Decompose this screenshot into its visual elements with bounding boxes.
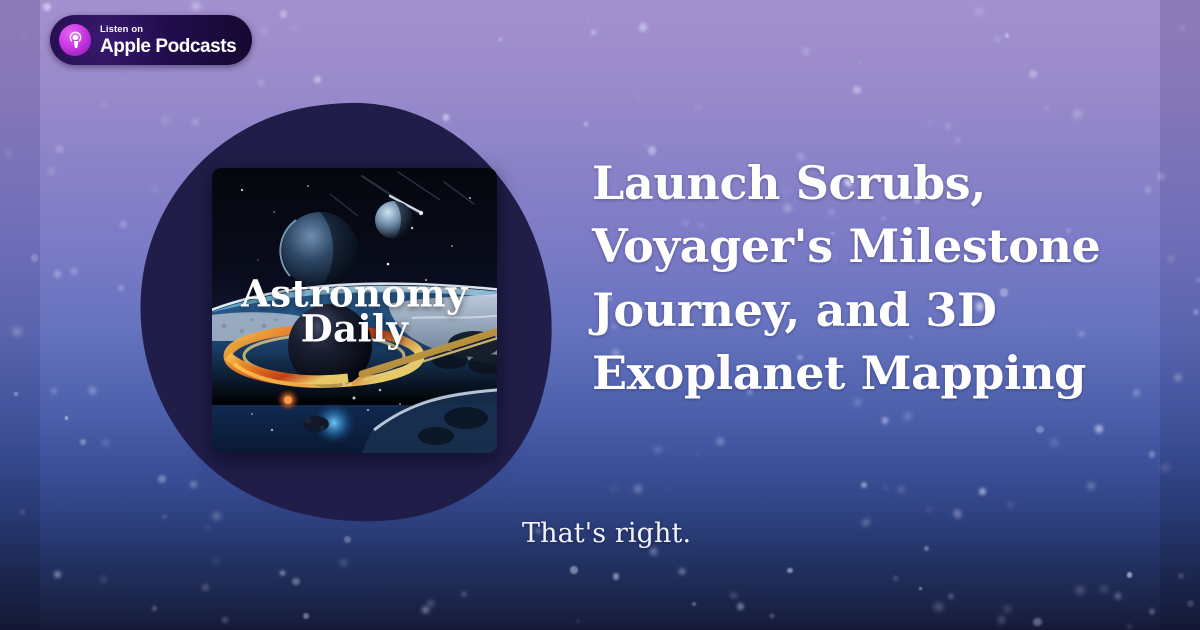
star-dot bbox=[787, 568, 793, 574]
star-dot bbox=[280, 10, 288, 18]
star-dot bbox=[611, 486, 616, 491]
star-dot bbox=[955, 137, 962, 144]
star-dot bbox=[1150, 609, 1155, 614]
star-dot bbox=[679, 569, 685, 575]
star-dot bbox=[214, 559, 217, 562]
star-dot bbox=[152, 606, 157, 611]
star-dot bbox=[927, 507, 932, 512]
star-dot bbox=[1193, 309, 1199, 315]
star-dot bbox=[1133, 389, 1141, 397]
star-dot bbox=[1109, 78, 1112, 81]
star-dot bbox=[21, 34, 26, 39]
star-dot bbox=[31, 254, 39, 262]
star-dot bbox=[696, 452, 699, 455]
star-dot bbox=[1158, 173, 1165, 180]
star-dot bbox=[61, 504, 64, 507]
star-dot bbox=[89, 387, 96, 394]
star-dot bbox=[1162, 464, 1170, 472]
star-dot bbox=[956, 513, 962, 519]
star-dot bbox=[803, 48, 809, 54]
star-dot bbox=[202, 584, 209, 591]
star-dot bbox=[979, 488, 986, 495]
star-dot bbox=[20, 510, 25, 515]
star-dot bbox=[80, 439, 86, 445]
star-dot bbox=[899, 487, 904, 492]
star-dot bbox=[6, 151, 11, 156]
star-dot bbox=[882, 417, 889, 424]
star-dot bbox=[929, 120, 932, 123]
star-dot bbox=[577, 620, 580, 623]
star-dot bbox=[499, 38, 502, 41]
star-dot bbox=[737, 603, 744, 610]
star-dot bbox=[639, 23, 647, 31]
star-dot bbox=[54, 571, 61, 578]
podcast-share-card: Listen on Apple Podcasts bbox=[0, 0, 1200, 630]
star-dot bbox=[1073, 110, 1082, 119]
star-dot bbox=[1167, 255, 1175, 263]
star-dot bbox=[314, 76, 321, 83]
star-dot bbox=[613, 573, 620, 580]
star-dot bbox=[853, 86, 862, 95]
star-dot bbox=[668, 488, 671, 491]
star-dot bbox=[998, 616, 1006, 624]
star-dot bbox=[904, 412, 913, 421]
star-dot bbox=[13, 328, 21, 336]
star-dot bbox=[104, 441, 108, 445]
star-dot bbox=[696, 105, 700, 109]
badge-text-group: Listen on Apple Podcasts bbox=[100, 25, 236, 56]
star-dot bbox=[924, 546, 930, 552]
star-dot bbox=[635, 486, 641, 492]
star-dot bbox=[1127, 572, 1133, 578]
star-dot bbox=[1095, 425, 1103, 433]
badge-store-label: Apple Podcasts bbox=[100, 37, 236, 56]
star-dot bbox=[770, 614, 774, 618]
star-dot bbox=[292, 27, 296, 31]
star-dot bbox=[996, 37, 1000, 41]
apple-podcasts-icon bbox=[59, 24, 91, 56]
star-dot bbox=[119, 140, 122, 143]
star-dot bbox=[861, 482, 867, 488]
listen-on-apple-podcasts-badge[interactable]: Listen on Apple Podcasts bbox=[50, 15, 252, 65]
star-dot bbox=[1008, 503, 1012, 507]
star-dot bbox=[1076, 586, 1084, 594]
star-dot bbox=[859, 61, 862, 64]
star-dot bbox=[344, 536, 351, 543]
star-dot bbox=[1029, 70, 1037, 78]
star-dot bbox=[1127, 624, 1132, 629]
star-dot bbox=[1051, 439, 1058, 446]
star-dot bbox=[584, 122, 588, 126]
star-dot bbox=[1115, 593, 1121, 599]
star-dot bbox=[462, 592, 466, 596]
transcript-caption: That's right. bbox=[522, 518, 691, 549]
star-dot bbox=[262, 29, 266, 33]
star-dot bbox=[259, 81, 264, 86]
star-dot bbox=[223, 618, 228, 623]
star-dot bbox=[119, 286, 124, 291]
artwork-group: Astronomy Daily bbox=[135, 95, 565, 525]
star-dot bbox=[428, 601, 433, 606]
star-dot bbox=[588, 20, 591, 23]
star-dot bbox=[904, 418, 907, 421]
star-dot bbox=[692, 602, 696, 606]
star-dot bbox=[192, 2, 200, 10]
star-dot bbox=[1088, 483, 1094, 489]
star-dot bbox=[1175, 374, 1181, 380]
star-dot bbox=[1005, 33, 1010, 38]
star-dot bbox=[975, 8, 982, 15]
star-dot bbox=[1036, 426, 1044, 434]
star-dot bbox=[422, 607, 429, 614]
star-dot bbox=[47, 167, 55, 175]
star-dot bbox=[206, 525, 211, 530]
star-dot bbox=[1149, 451, 1156, 458]
star-dot bbox=[650, 548, 657, 555]
star-dot bbox=[570, 566, 578, 574]
star-dot bbox=[919, 587, 922, 590]
cover-art-illustration bbox=[212, 168, 497, 453]
badge-listen-label: Listen on bbox=[100, 25, 236, 35]
star-dot bbox=[1045, 107, 1048, 110]
star-dot bbox=[1004, 606, 1011, 613]
star-dot bbox=[340, 559, 346, 565]
star-dot bbox=[1180, 26, 1185, 31]
star-dot bbox=[1033, 618, 1042, 627]
star-dot bbox=[1196, 278, 1200, 282]
star-dot bbox=[52, 389, 56, 393]
star-dot bbox=[54, 270, 61, 277]
star-dot bbox=[731, 593, 736, 598]
star-dot bbox=[934, 603, 943, 612]
left-edge-band bbox=[0, 0, 40, 630]
star-dot bbox=[1145, 187, 1151, 193]
right-edge-band bbox=[1160, 0, 1200, 630]
star-dot bbox=[863, 520, 869, 526]
star-dot bbox=[953, 509, 961, 517]
star-dot bbox=[303, 613, 309, 619]
star-dot bbox=[43, 3, 52, 12]
star-dot bbox=[101, 577, 106, 582]
star-dot bbox=[884, 485, 887, 488]
episode-title: Launch Scrubs, Voyager's Milestone Journ… bbox=[592, 152, 1122, 406]
star-dot bbox=[644, 144, 647, 147]
star-dot bbox=[70, 268, 77, 275]
star-dot bbox=[280, 571, 284, 575]
star-dot bbox=[292, 578, 300, 586]
star-dot bbox=[1187, 600, 1194, 607]
podcast-cover-art[interactable]: Astronomy Daily bbox=[212, 168, 497, 453]
star-dot bbox=[65, 416, 69, 420]
star-dot bbox=[121, 222, 126, 227]
star-dot bbox=[894, 577, 897, 580]
star-dot bbox=[55, 145, 64, 154]
star-dot bbox=[103, 103, 106, 106]
star-dot bbox=[949, 594, 954, 599]
star-dot bbox=[1179, 574, 1183, 578]
star-dot bbox=[946, 124, 951, 129]
star-dot bbox=[591, 30, 596, 35]
star-dot bbox=[655, 447, 661, 453]
star-dot bbox=[637, 95, 640, 98]
star-dot bbox=[717, 438, 724, 445]
star-dot bbox=[1101, 586, 1107, 592]
star-dot bbox=[14, 392, 18, 396]
